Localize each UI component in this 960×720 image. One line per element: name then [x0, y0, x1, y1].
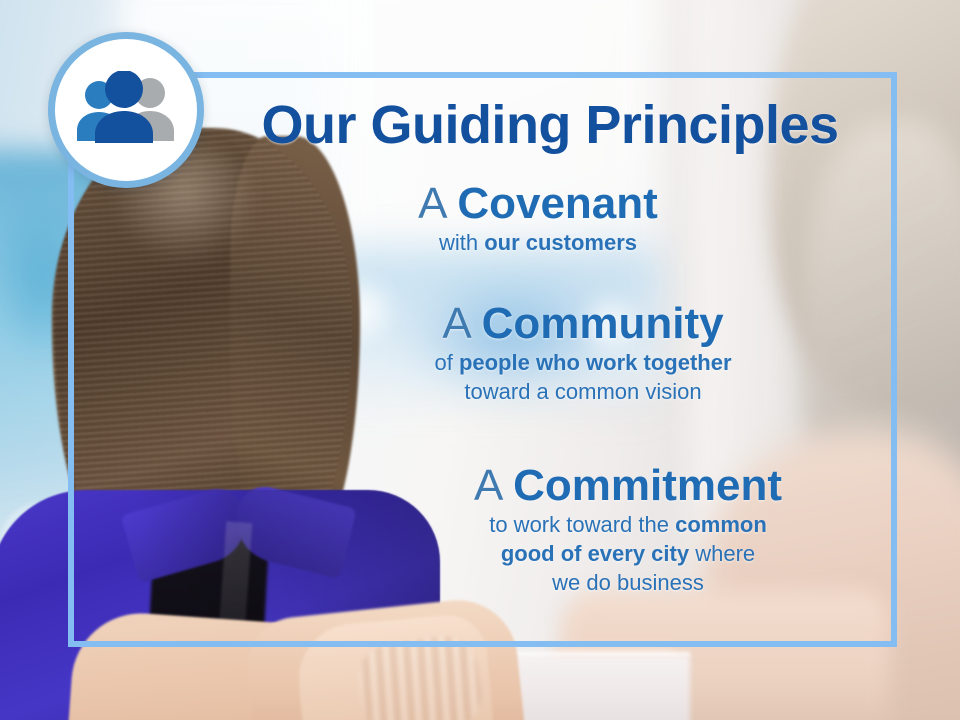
principle-community: A Community of people who work together … — [278, 300, 888, 406]
principle-community-subtext: of people who work together toward a com… — [278, 348, 888, 406]
principle-covenant-key: Covenant — [457, 179, 657, 228]
principle-commitment-heading: A Commitment — [358, 462, 898, 510]
guiding-principles-banner: FLOW AUTOMOTIVE FLOW Our G — [0, 0, 960, 720]
commitment-sub-line-2: good of every city where — [358, 539, 898, 568]
commitment-sub-bold-1: common — [675, 512, 767, 537]
principle-commitment-key: Commitment — [513, 461, 782, 510]
principle-commitment-subtext: to work toward the common good of every … — [358, 510, 898, 597]
covenant-sub-bold: our customers — [484, 230, 637, 255]
commitment-sub-plain-2: where — [689, 541, 755, 566]
principle-community-heading: A Community — [278, 300, 888, 348]
principle-covenant-lead: A — [418, 179, 445, 228]
commitment-sub-plain-1: to work toward the — [489, 512, 675, 537]
principle-community-lead: A — [442, 299, 469, 348]
community-sub-plain: of — [434, 350, 458, 375]
covenant-sub-plain: with — [439, 230, 484, 255]
page-title: Our Guiding Principles — [220, 94, 880, 156]
commitment-sub-line-1: to work toward the common — [358, 510, 898, 539]
community-sub-line-2: toward a common vision — [278, 377, 888, 406]
principle-covenant-heading: A Covenant — [258, 180, 818, 228]
principle-covenant: A Covenant with our customers — [258, 180, 818, 257]
principle-community-key: Community — [482, 299, 724, 348]
commitment-sub-bold-2: good of every city — [501, 541, 689, 566]
community-sub-bold: people who work together — [459, 350, 732, 375]
commitment-sub-line-3: we do business — [358, 568, 898, 597]
principle-commitment-lead: A — [474, 461, 501, 510]
principle-commitment: A Commitment to work toward the common g… — [358, 462, 898, 597]
text-content: Our Guiding Principles A Covenant with o… — [68, 72, 897, 647]
community-sub-line-1: of people who work together — [278, 348, 888, 377]
principle-covenant-subtext: with our customers — [258, 228, 818, 257]
